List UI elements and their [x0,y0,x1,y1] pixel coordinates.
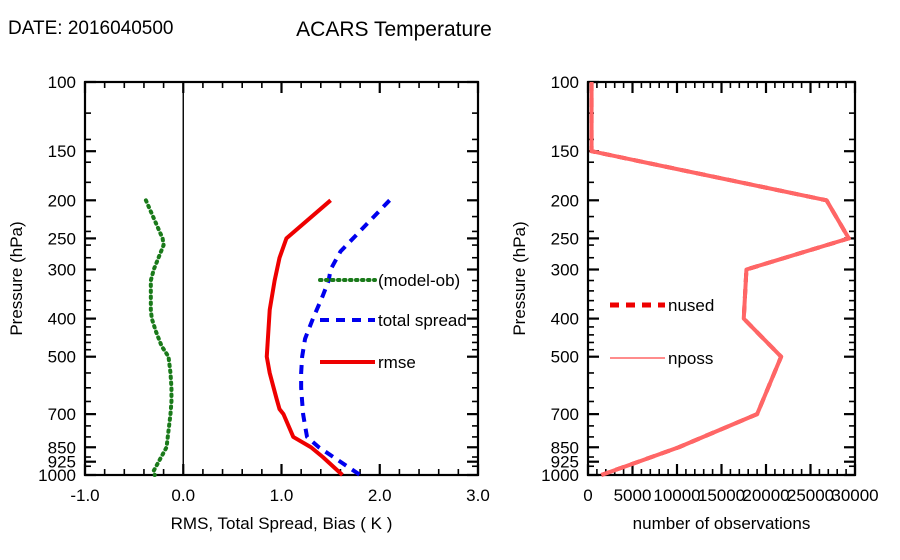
chart-page: DATE: 2016040500 ACARS Temperature 10015… [0,0,900,560]
legend-label--model-ob-: (model-ob) [378,271,460,290]
y-tick-label: 100 [48,73,76,92]
legend-label-rmse: rmse [378,353,416,372]
y-tick-label: 150 [48,142,76,161]
y-tick-label: 500 [551,348,579,367]
legend-label-nposs: nposs [668,349,713,368]
series-line-nused [592,82,849,475]
x-tick-label: 0.0 [171,486,195,505]
y-tick-label: 200 [48,191,76,210]
x-tick-label: 10000 [653,486,700,505]
x-tick-label: 15000 [698,486,745,505]
y-tick-label: 1000 [541,466,579,485]
y-tick-label: 700 [48,405,76,424]
x-tick-label: 0 [583,486,592,505]
x-axis-title: RMS, Total Spread, Bias ( K ) [171,514,393,533]
y-tick-label: 150 [551,142,579,161]
x-tick-label: 1.0 [270,486,294,505]
y-tick-label: 200 [551,191,579,210]
x-tick-label: 5000 [614,486,652,505]
x-axis-title: number of observations [633,514,811,533]
legend-label-total-spread: total spread [378,311,467,330]
x-tick-label: 25000 [787,486,834,505]
y-tick-label: 300 [48,261,76,280]
y-tick-label: 500 [48,348,76,367]
series-line--model-ob- [146,200,172,475]
y-axis-title: Pressure (hPa) [510,221,529,335]
y-tick-label: 400 [48,310,76,329]
x-tick-label: 20000 [742,486,789,505]
y-tick-label: 250 [48,229,76,248]
y-tick-label: 1000 [38,466,76,485]
x-tick-label: 2.0 [368,486,392,505]
legend-label-nused: nused [668,296,714,315]
panel-frame-right [588,82,855,475]
series-line-nposs [592,82,849,475]
x-tick-label: 30000 [831,486,878,505]
y-tick-label: 250 [551,229,579,248]
x-tick-label: 3.0 [466,486,490,505]
x-tick-label: -1.0 [70,486,99,505]
y-tick-label: 300 [551,261,579,280]
plot-canvas: 1001502002503004005007008509251000-1.00.… [0,0,900,560]
y-tick-label: 100 [551,73,579,92]
y-axis-title: Pressure (hPa) [7,221,26,335]
series-line-total-spread [301,200,389,475]
y-tick-label: 400 [551,310,579,329]
y-tick-label: 700 [551,405,579,424]
